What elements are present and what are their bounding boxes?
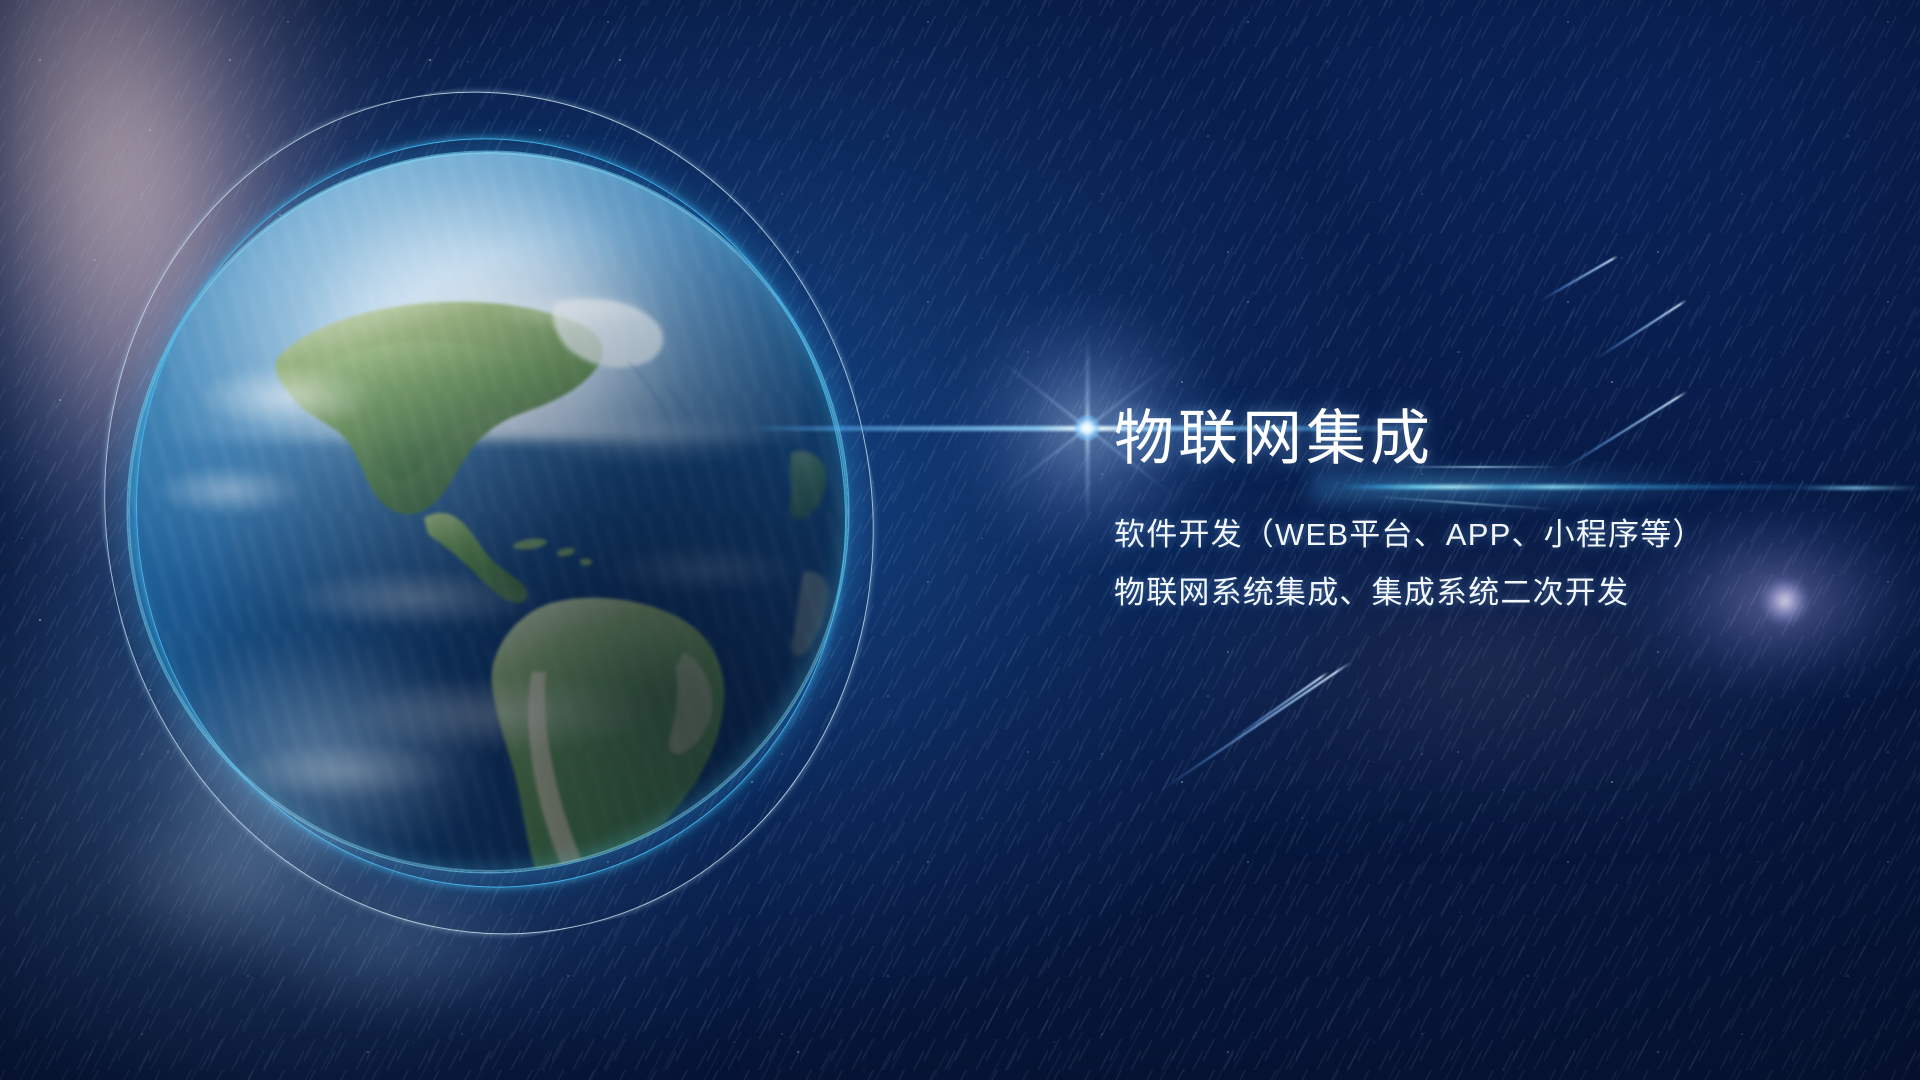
banner-headline: 物联网集成 (1114, 408, 1854, 469)
banner-copy: 物联网集成 软件开发（WEB平台、APP、小程序等） 物联网系统集成、集成系统二… (1114, 408, 1854, 608)
iot-integration-banner: 物联网集成 软件开发（WEB平台、APP、小程序等） 物联网系统集成、集成系统二… (0, 0, 1920, 1080)
banner-subtitle-line-1: 软件开发（WEB平台、APP、小程序等） (1114, 519, 1854, 550)
globe-mist (70, 620, 610, 1060)
banner-subtitle-line-2: 物联网系统集成、集成系统二次开发 (1114, 577, 1854, 608)
